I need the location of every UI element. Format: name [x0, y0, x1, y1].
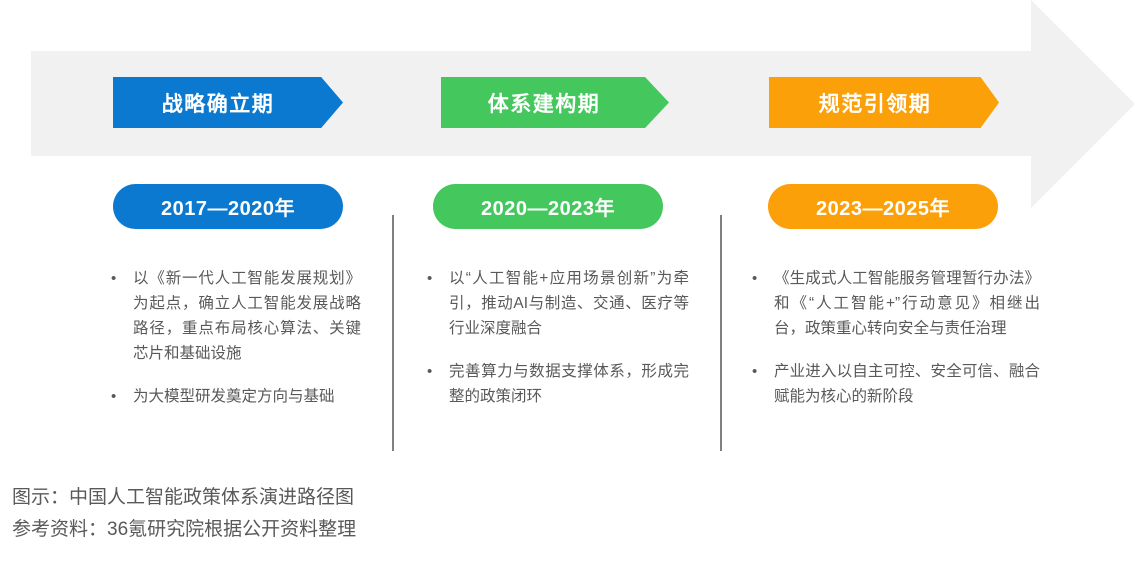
column-divider-1 — [392, 215, 394, 451]
phase-chevron-regulation-leading[interactable]: 规范引领期 — [769, 77, 999, 128]
bullet-dot-icon: • — [752, 359, 774, 384]
period-pill-strategy-establishment[interactable]: 2017—2020年 — [113, 184, 343, 229]
phase-chevron-system-construction[interactable]: 体系建构期 — [441, 77, 669, 128]
bullet-dot-icon: • — [752, 266, 774, 291]
bullet-text: 《生成式人工智能服务管理暂行办法》和《“人工智能+”行动意见》相继出台，政策重心… — [774, 266, 1040, 341]
phase-chevron-label: 体系建构期 — [488, 88, 601, 118]
period-pill-system-construction[interactable]: 2020—2023年 — [433, 184, 663, 229]
bullet-column-strategy-establishment: • 以《新一代人工智能发展规划》为起点，确立人工智能发展战略路径，重点布局核心算… — [111, 266, 361, 409]
phase-chevron-label: 战略确立期 — [162, 88, 275, 118]
list-item: • 产业进入以自主可控、安全可信、融合赋能为核心的新阶段 — [752, 359, 1040, 409]
bullet-dot-icon: • — [111, 266, 133, 291]
list-item: • 以《新一代人工智能发展规划》为起点，确立人工智能发展战略路径，重点布局核心算… — [111, 266, 361, 366]
list-item: • 《生成式人工智能服务管理暂行办法》和《“人工智能+”行动意见》相继出台，政策… — [752, 266, 1040, 341]
bullet-column-system-construction: • 以“人工智能+应用场景创新”为牵引，推动AI与制造、交通、医疗等行业深度融合… — [427, 266, 689, 409]
bullet-dot-icon: • — [111, 384, 133, 409]
bullet-dot-icon: • — [427, 266, 449, 291]
infographic-canvas: 战略确立期 体系建构期 规范引领期 2017—2020年 2020—2023年 … — [0, 0, 1135, 571]
list-item: • 以“人工智能+应用场景创新”为牵引，推动AI与制造、交通、医疗等行业深度融合 — [427, 266, 689, 341]
bullet-text: 以“人工智能+应用场景创新”为牵引，推动AI与制造、交通、医疗等行业深度融合 — [449, 266, 689, 341]
source-caption: 参考资料：36氪研究院根据公开资料整理 — [12, 514, 356, 545]
bullet-text: 产业进入以自主可控、安全可信、融合赋能为核心的新阶段 — [774, 359, 1040, 409]
bullet-text: 完善算力与数据支撑体系，形成完整的政策闭环 — [449, 359, 689, 409]
phase-chevron-strategy-establishment[interactable]: 战略确立期 — [113, 77, 343, 128]
timeline-arrow-head-icon — [1031, 0, 1135, 208]
bullet-text: 为大模型研发奠定方向与基础 — [133, 384, 361, 409]
bullet-column-regulation-leading: • 《生成式人工智能服务管理暂行办法》和《“人工智能+”行动意见》相继出台，政策… — [752, 266, 1040, 409]
list-item: • 为大模型研发奠定方向与基础 — [111, 384, 361, 409]
bullet-text: 以《新一代人工智能发展规划》为起点，确立人工智能发展战略路径，重点布局核心算法、… — [133, 266, 361, 366]
period-pill-regulation-leading[interactable]: 2023—2025年 — [768, 184, 998, 229]
column-divider-2 — [720, 215, 722, 451]
period-pill-label: 2020—2023年 — [481, 192, 615, 221]
list-item: • 完善算力与数据支撑体系，形成完整的政策闭环 — [427, 359, 689, 409]
period-pill-label: 2017—2020年 — [161, 192, 295, 221]
period-pill-label: 2023—2025年 — [816, 192, 950, 221]
figure-caption: 图示：中国人工智能政策体系演进路径图 — [12, 482, 354, 513]
bullet-dot-icon: • — [427, 359, 449, 384]
phase-chevron-label: 规范引领期 — [819, 88, 932, 118]
